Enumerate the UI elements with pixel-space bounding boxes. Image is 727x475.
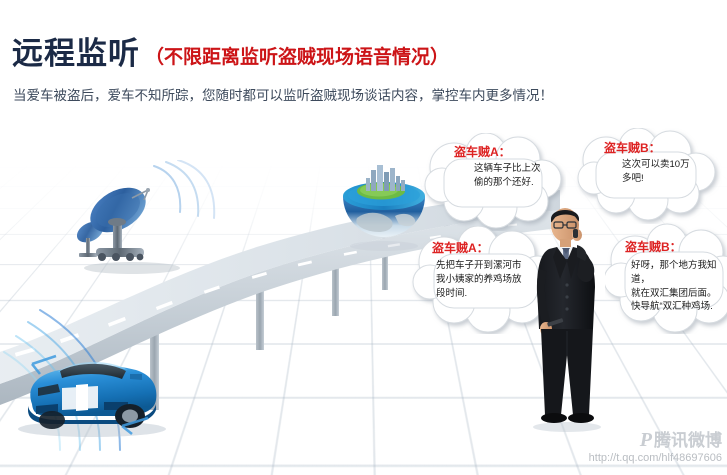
page-title-main: 远程监听 (12, 38, 140, 69)
weibo-p-mark: P (640, 430, 652, 450)
blue-sports-car (2, 330, 178, 440)
satellite-dish-icon (62, 168, 182, 278)
bubble-label: 盗车贼A： (454, 143, 511, 160)
tencent-weibo-logo: P 腾讯微博 (589, 430, 722, 450)
bubble-text: 这辆车子比上次 偷的那个还好. (474, 162, 541, 190)
businessman-on-phone (515, 205, 615, 433)
bubble-text: 这次可以卖10万 多吧! (622, 158, 690, 186)
watermark-url: http://t.qq.com/hlf48697606 (589, 453, 722, 464)
bubble-label: 盗车贼B： (604, 139, 661, 156)
bubble-label: 盗车贼B： (625, 238, 682, 255)
page-title: 远程监听 （不限距离监听盗贼现场语音情况） (12, 38, 449, 69)
page-title-parenthetical: （不限距离监听盗贼现场语音情况） (145, 48, 449, 69)
bubble-text: 先把车子开到漯河市 我小姨家的养鸡场放 段时间. (436, 259, 522, 300)
city-skyline (366, 165, 405, 191)
speech-bubble-thief-b-bottom: 盗车贼B： 好呀，那个地方我知道， 就在双汇集团后面。 快导航“双汇种鸡场. (605, 222, 727, 334)
mobile-phone (573, 229, 578, 238)
bubble-text: 好呀，那个地方我知道， 就在双汇集团后面。 快导航“双汇种鸡场. (631, 259, 727, 314)
promo-banner: 盗车贼A： 这辆车子比上次 偷的那个还好. 盗车贼B： 这次 (0, 0, 727, 475)
bubble-label: 盗车贼A： (432, 239, 489, 256)
weibo-logo-text: 腾讯微博 (654, 432, 722, 449)
page-subtitle: 当爱车被盗后，爱车不知所踪，您随时都可以监听盗贼现场谈话内容，掌控车内更多情况！ (13, 84, 553, 104)
watermark: P 腾讯微博 http://t.qq.com/hlf48697606 (589, 430, 722, 464)
